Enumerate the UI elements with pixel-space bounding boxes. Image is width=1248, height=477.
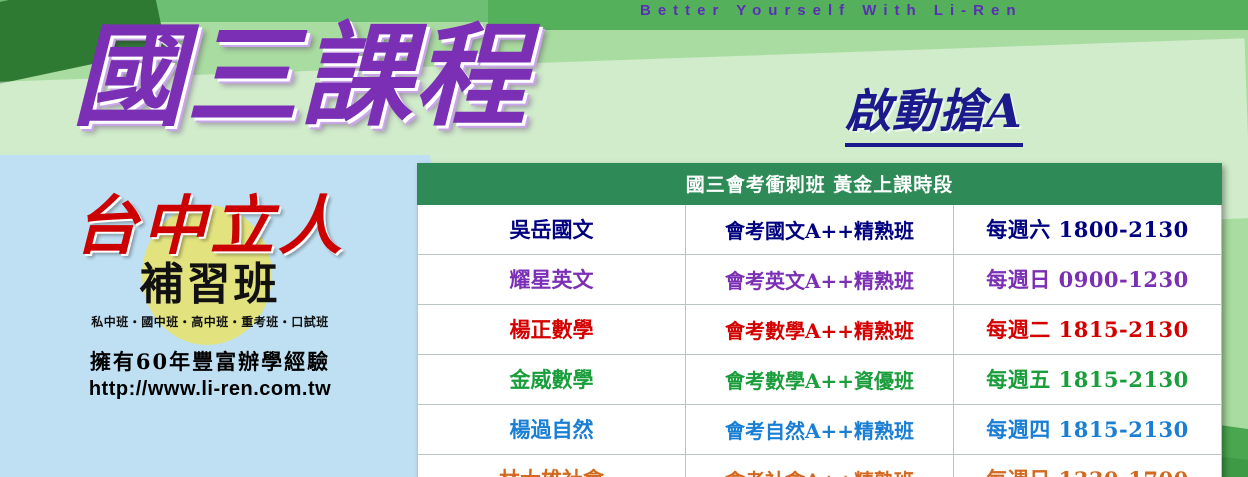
schedule-table: 國三會考衝刺班 黃金上課時段 吳岳國文會考國文A++精熟班每週六 1800-21… [417, 163, 1222, 477]
cell-course: 會考社會A++精熟班 [686, 455, 954, 477]
cell-time: 每週四 1815-2130 [954, 405, 1222, 455]
cell-time: 每週五 1815-2130 [954, 355, 1222, 405]
logo-class-list: 私中班・國中班・高中班・重考班・口試班 [30, 313, 390, 330]
cell-teacher: 吳岳國文 [418, 205, 686, 255]
table-row: 楊正數學會考數學A++精熟班每週二 1815-2130 [418, 305, 1222, 355]
school-logo: 台中立人 補習班 私中班・國中班・高中班・重考班・口試班 擁有60年豐富辦學經驗… [30, 195, 390, 401]
tagline-text: Better Yourself With Li-Ren [640, 2, 1023, 19]
page-subtitle: 啟動搶A [845, 75, 1023, 147]
logo-school-name: 台中立人 [30, 195, 390, 259]
table-row: 楊過自然會考自然A++精熟班每週四 1815-2130 [418, 405, 1222, 455]
page-title: 國三課程 [72, 18, 528, 136]
table-row: 林大雄社會會考社會A++精熟班每週日 1330-1700 [418, 455, 1222, 477]
logo-school-type: 補習班 [30, 261, 390, 309]
cell-teacher: 林大雄社會 [418, 455, 686, 477]
poster-canvas: Better Yourself With Li-Ren 國三課程 啟動搶A 台中… [0, 0, 1248, 477]
cell-course: 會考國文A++精熟班 [686, 205, 954, 255]
table-body: 吳岳國文會考國文A++精熟班每週六 1800-2130耀星英文會考英文A++精熟… [418, 205, 1222, 477]
table-row: 金威數學會考數學A++資優班每週五 1815-2130 [418, 355, 1222, 405]
table-row: 吳岳國文會考國文A++精熟班每週六 1800-2130 [418, 205, 1222, 255]
cell-course: 會考英文A++精熟班 [686, 255, 954, 305]
cell-time: 每週日 1330-1700 [954, 455, 1222, 477]
table-header-row: 國三會考衝刺班 黃金上課時段 [418, 164, 1222, 205]
cell-teacher: 耀星英文 [418, 255, 686, 305]
schedule-table-container: 國三會考衝刺班 黃金上課時段 吳岳國文會考國文A++精熟班每週六 1800-21… [417, 163, 1222, 477]
cell-teacher: 楊過自然 [418, 405, 686, 455]
logo-experience-text: 擁有60年豐富辦學經驗 [30, 346, 390, 376]
cell-course: 會考數學A++資優班 [686, 355, 954, 405]
cell-teacher: 金威數學 [418, 355, 686, 405]
table-row: 耀星英文會考英文A++精熟班每週日 0900-1230 [418, 255, 1222, 305]
cell-time: 每週二 1815-2130 [954, 305, 1222, 355]
cell-course: 會考自然A++精熟班 [686, 405, 954, 455]
cell-course: 會考數學A++精熟班 [686, 305, 954, 355]
table-header-title: 國三會考衝刺班 黃金上課時段 [418, 164, 1222, 205]
cell-time: 每週日 0900-1230 [954, 255, 1222, 305]
logo-website-url[interactable]: http://www.li-ren.com.tw [30, 378, 390, 401]
cell-time: 每週六 1800-2130 [954, 205, 1222, 255]
cell-teacher: 楊正數學 [418, 305, 686, 355]
